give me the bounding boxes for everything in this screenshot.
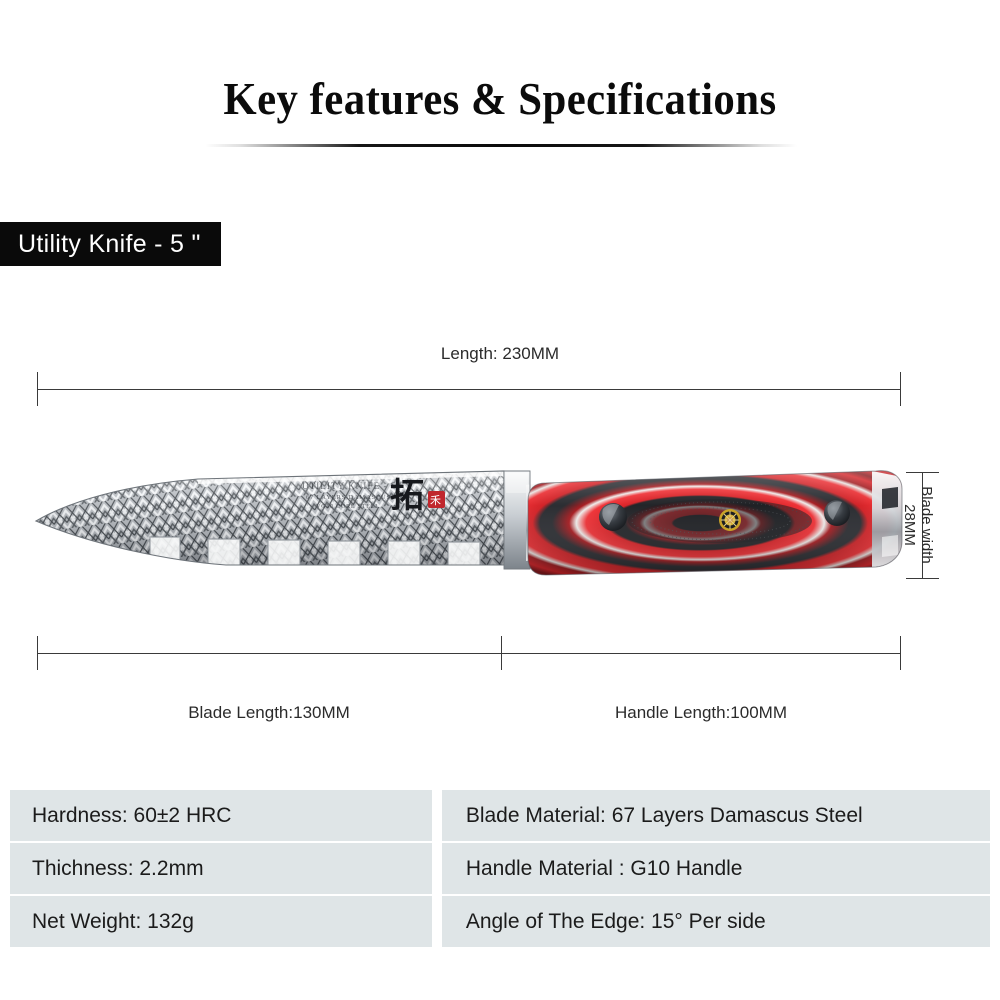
brand-seal-logo: 禾 bbox=[428, 491, 445, 508]
spec-net-weight: Net Weight: 132g bbox=[10, 896, 432, 947]
spec-hardness: Hardness: 60±2 HRC bbox=[10, 790, 432, 841]
blade-etch-line-1: UTILITY KNIFE - 5" bbox=[302, 481, 401, 491]
column-divider bbox=[432, 896, 442, 947]
blade-handle-tick-left bbox=[37, 636, 38, 670]
table-row: Thichness: 2.2mm Handle Material : G10 H… bbox=[10, 843, 990, 894]
page-title: Key features & Specifications bbox=[35, 72, 965, 125]
spec-blade-material: Blade Material: 67 Layers Damascus Steel bbox=[442, 790, 990, 841]
blade-width-label-line1: Blade width bbox=[918, 486, 935, 564]
handle-rivet-rear bbox=[824, 500, 850, 526]
overall-length-tick-right bbox=[900, 372, 901, 406]
knife-illustration: UTILITY KNIFE - 5" 67 LAYERS DAMASCUS VG… bbox=[30, 445, 930, 605]
blade-width-label: Blade width 28MM bbox=[901, 472, 935, 578]
overall-length-tick-left bbox=[37, 372, 38, 406]
blade-etch-line-2: 67 LAYERS DAMASCUS bbox=[306, 494, 391, 501]
column-divider bbox=[432, 843, 442, 894]
spec-edge-angle: Angle of The Edge: 15° Per side bbox=[442, 896, 990, 947]
blade-width-tick-bottom bbox=[906, 578, 939, 579]
table-row: Net Weight: 132g Angle of The Edge: 15° … bbox=[10, 896, 990, 947]
blade-handle-tick-right bbox=[900, 636, 901, 670]
overall-length-dimension-line bbox=[37, 389, 901, 390]
handle-length-label: Handle Length:100MM bbox=[501, 703, 901, 723]
overall-length-label: Length: 230MM bbox=[0, 344, 1000, 364]
title-divider bbox=[205, 144, 797, 147]
table-row: Hardness: 60±2 HRC Blade Material: 67 La… bbox=[10, 790, 990, 841]
knife-handle bbox=[520, 465, 912, 581]
blade-width-label-line2: 28MM bbox=[901, 504, 918, 546]
spec-thickness: Thichness: 2.2mm bbox=[10, 843, 432, 894]
knife-blade bbox=[30, 463, 520, 575]
blade-length-label: Blade Length:130MM bbox=[37, 703, 501, 723]
product-name-badge: Utility Knife - 5 " bbox=[0, 222, 221, 266]
specifications-table: Hardness: 60±2 HRC Blade Material: 67 La… bbox=[10, 790, 990, 947]
column-divider bbox=[432, 790, 442, 841]
blade-handle-dimension-line bbox=[37, 653, 901, 654]
spec-handle-material: Handle Material : G10 Handle bbox=[442, 843, 990, 894]
brand-seal-glyph: 禾 bbox=[430, 494, 441, 507]
handle-rivet-front bbox=[599, 503, 627, 531]
handle-mosaic-pin bbox=[719, 509, 741, 531]
blade-etch-line-3: VG10 CORE STEEL bbox=[316, 504, 380, 510]
brand-kanji-logo: 拓 bbox=[390, 476, 424, 516]
blade-handle-tick-middle bbox=[501, 636, 502, 670]
